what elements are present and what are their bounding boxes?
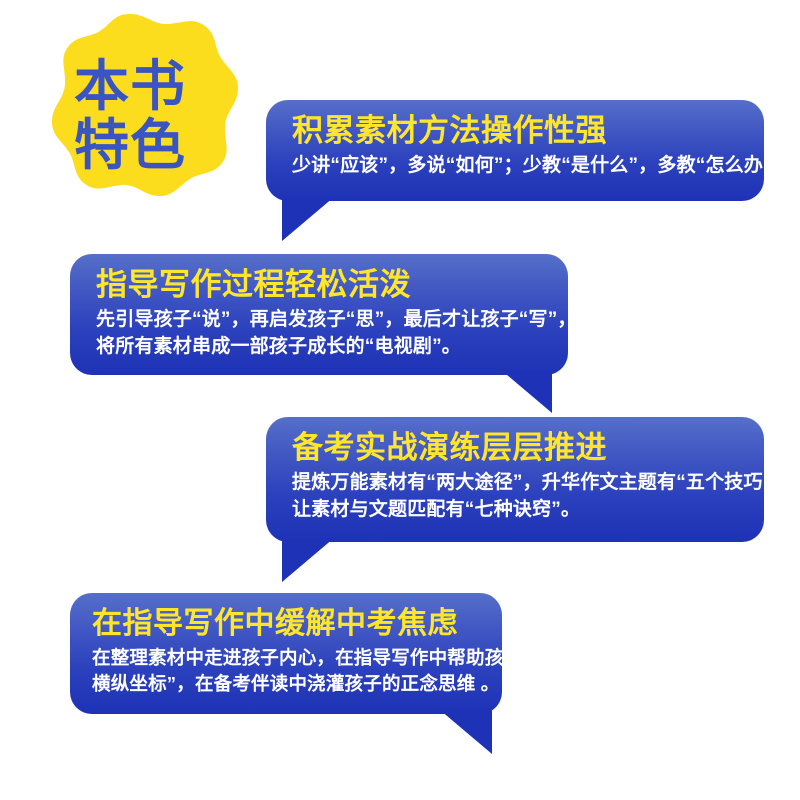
bubble-heading-1: 积累素材方法操作性强 — [292, 112, 746, 151]
bubble-tail-1 — [282, 197, 334, 241]
badge-line-1: 本书 — [74, 58, 186, 115]
badge-label: 本书 特色 — [22, 8, 238, 224]
bubble-body-2: 指导写作过程轻松活泼 先引导孩子“说”，再启发孩子“思”，最后才让孩子“写”， … — [70, 254, 568, 375]
poster-canvas: 本书 特色 积累素材方法操作性强 少讲“应该”，多说“如何”；少教“是什么”，多… — [0, 0, 800, 800]
book-features-badge: 本书 特色 — [22, 8, 238, 224]
bubble-text-line: 让素材与文题匹配有“七种诀窍”。 — [292, 497, 746, 524]
bubble-text-2: 先引导孩子“说”，再启发孩子“思”，最后才让孩子“写”， 将所有素材串成一部孩子… — [96, 307, 550, 361]
bubble-text-4: 在整理素材中走进孩子内心，在指导写作中帮助孩子建立“人生 横纵坐标”，在备考伴读… — [92, 645, 492, 698]
feature-bubble-4: 在指导写作中缓解中考焦虑 在整理素材中走进孩子内心，在指导写作中帮助孩子建立“人… — [70, 593, 502, 714]
bubble-heading-2: 指导写作过程轻松活泼 — [96, 266, 550, 305]
bubble-body-1: 积累素材方法操作性强 少讲“应该”，多说“如何”；少教“是什么”，多教“怎么办”… — [266, 100, 764, 201]
bubble-body-3: 备考实战演练层层推进 提炼万能素材有“两大途径”，升华作文主题有“五个技巧”， … — [266, 417, 764, 542]
bubble-text-line: 将所有素材串成一部孩子成长的“电视剧”。 — [96, 334, 550, 361]
bubble-tail-3 — [282, 538, 334, 582]
bubble-heading-3: 备考实战演练层层推进 — [292, 429, 746, 468]
bubble-tail-4 — [440, 710, 492, 754]
bubble-heading-4: 在指导写作中缓解中考焦虑 — [92, 605, 492, 643]
bubble-text-line: 先引导孩子“说”，再启发孩子“思”，最后才让孩子“写”， — [96, 307, 550, 334]
bubble-tail-2 — [500, 369, 552, 413]
bubble-body-4: 在指导写作中缓解中考焦虑 在整理素材中走进孩子内心，在指导写作中帮助孩子建立“人… — [70, 593, 502, 714]
feature-bubble-3: 备考实战演练层层推进 提炼万能素材有“两大途径”，升华作文主题有“五个技巧”， … — [266, 417, 764, 542]
bubble-text-line: 在整理素材中走进孩子内心，在指导写作中帮助孩子建立“人生 — [92, 645, 492, 671]
badge-line-2: 特色 — [74, 117, 186, 174]
feature-bubble-1: 积累素材方法操作性强 少讲“应该”，多说“如何”；少教“是什么”，多教“怎么办”… — [266, 100, 764, 201]
bubble-text-line: 提炼万能素材有“两大途径”，升华作文主题有“五个技巧”， — [292, 470, 746, 497]
bubble-text-line: 少讲“应该”，多说“如何”；少教“是什么”，多教“怎么办”。 — [292, 153, 746, 180]
bubble-text-1: 少讲“应该”，多说“如何”；少教“是什么”，多教“怎么办”。 — [292, 153, 746, 180]
bubble-text-line: 横纵坐标”，在备考伴读中浇灌孩子的正念思维 。 — [92, 671, 492, 697]
bubble-text-3: 提炼万能素材有“两大途径”，升华作文主题有“五个技巧”， 让素材与文题匹配有“七… — [292, 470, 746, 524]
feature-bubble-2: 指导写作过程轻松活泼 先引导孩子“说”，再启发孩子“思”，最后才让孩子“写”， … — [70, 254, 568, 375]
